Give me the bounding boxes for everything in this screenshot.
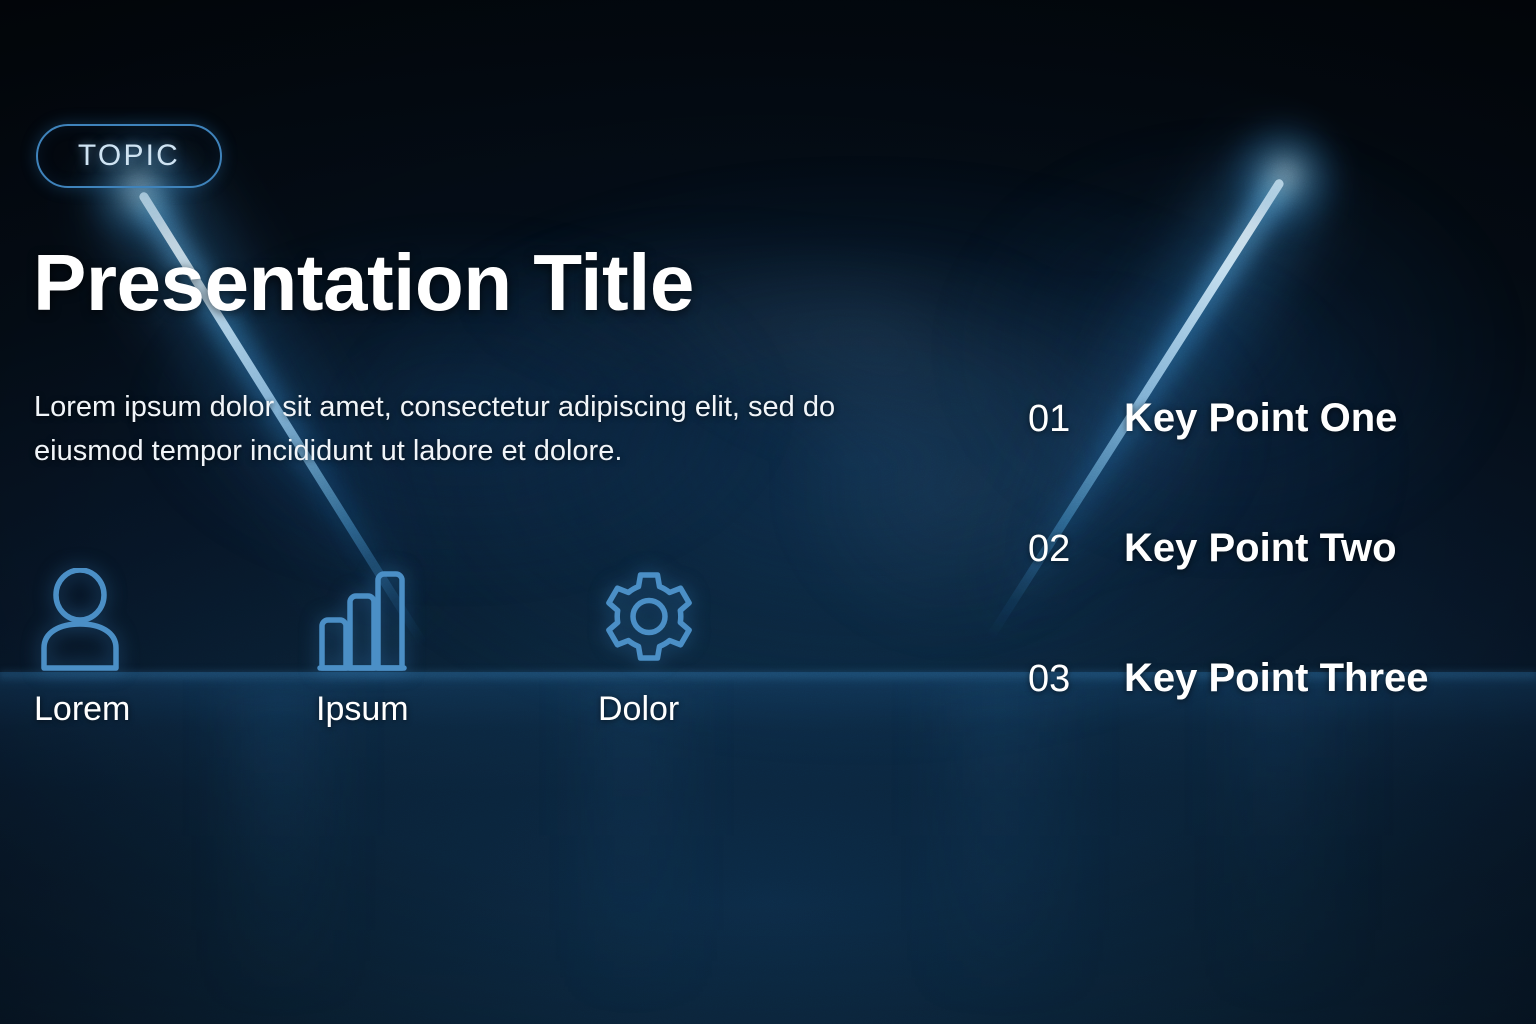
keypoint-number: 01 bbox=[1028, 398, 1124, 441]
feature-label-lorem: Lorem bbox=[34, 690, 130, 729]
slide-subtitle: Lorem ipsum dolor sit amet, consectetur … bbox=[34, 385, 914, 473]
page-title: Presentation Title bbox=[33, 243, 694, 323]
feature-item-ipsum[interactable]: Ipsum bbox=[316, 566, 466, 729]
keypoint-label: Key Point Two bbox=[1124, 526, 1397, 571]
feature-item-lorem[interactable]: Lorem bbox=[34, 566, 184, 729]
presentation-slide: TOPIC Presentation Title Lorem ipsum dol… bbox=[0, 0, 1536, 1024]
person-icon bbox=[34, 566, 126, 674]
bar-chart-icon bbox=[316, 566, 408, 674]
topic-badge[interactable]: TOPIC bbox=[36, 124, 222, 188]
keypoint-list: 01 Key Point One 02 Key Point Two 03 Key… bbox=[1028, 396, 1429, 701]
feature-label-dolor: Dolor bbox=[598, 690, 679, 729]
feature-list: Lorem Ipsum bbox=[34, 566, 748, 729]
slide-content: TOPIC Presentation Title Lorem ipsum dol… bbox=[0, 0, 1536, 1024]
topic-badge-label: TOPIC bbox=[78, 139, 180, 173]
feature-item-dolor[interactable]: Dolor bbox=[598, 566, 748, 729]
keypoint-item-01[interactable]: 01 Key Point One bbox=[1028, 396, 1429, 441]
keypoint-item-02[interactable]: 02 Key Point Two bbox=[1028, 526, 1429, 571]
gear-icon bbox=[598, 566, 700, 674]
feature-label-ipsum: Ipsum bbox=[316, 690, 409, 729]
keypoint-item-03[interactable]: 03 Key Point Three bbox=[1028, 656, 1429, 701]
keypoint-number: 02 bbox=[1028, 528, 1124, 571]
keypoint-label: Key Point One bbox=[1124, 396, 1397, 441]
keypoint-number: 03 bbox=[1028, 658, 1124, 701]
keypoint-label: Key Point Three bbox=[1124, 656, 1429, 701]
